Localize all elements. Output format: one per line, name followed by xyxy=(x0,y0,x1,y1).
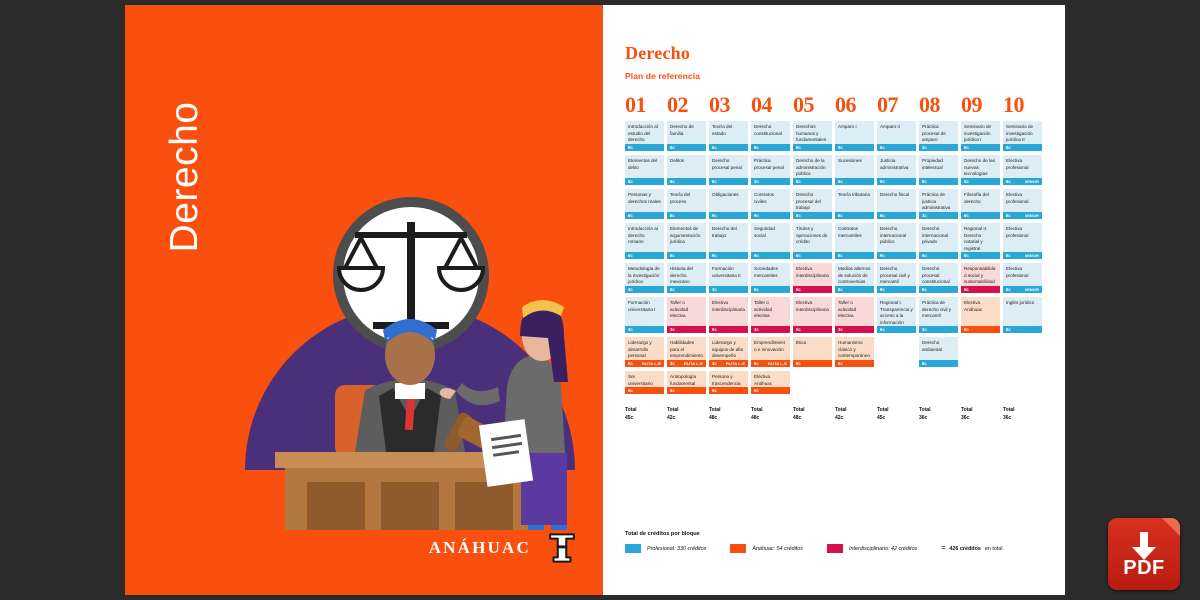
total-label: Total xyxy=(709,407,751,415)
course-credit-bar: 6c xyxy=(709,387,748,394)
course-tag: RUTA L-E xyxy=(684,361,703,366)
course-cell[interactable]: Historia del derecho mexicano6c xyxy=(667,263,706,295)
course-cell[interactable]: Contratos civiles9c xyxy=(751,189,790,221)
course-credit-bar: 6c xyxy=(961,212,1000,219)
course-credits: 6c xyxy=(1006,179,1011,184)
course-credits: 9c xyxy=(754,213,759,218)
semester-header-row: 01020304050607080910 xyxy=(625,92,1045,118)
course-name: Ser universitario xyxy=(625,371,664,387)
course-credit-bar: 6c xyxy=(835,360,874,367)
course-name: Práctica procesal de amparo xyxy=(919,121,958,144)
course-credits: 6c xyxy=(796,253,801,258)
course-credit-bar: 9c xyxy=(877,252,916,259)
course-credit-bar: 3cRUTA L-E xyxy=(667,360,706,367)
course-credits: 6c xyxy=(712,145,717,150)
course-credits: 3c xyxy=(712,287,717,292)
legend-equals: = xyxy=(941,545,945,552)
course-cell[interactable]: Práctica procesal de amparo3c xyxy=(919,121,958,153)
course-cell[interactable]: Humanismo clásico y contemporáneo6c xyxy=(835,337,874,369)
course-cell[interactable]: Personas y derechos reales6c xyxy=(625,189,664,221)
course-cell[interactable]: Práctica de derecho civil y mercantil3c xyxy=(919,297,958,335)
semester-total-09: Total36c xyxy=(961,407,1003,423)
total-value: 45c xyxy=(625,415,667,423)
course-credit-bar: 3c xyxy=(751,178,790,185)
course-cell[interactable]: Electiva profesional6cMINOR xyxy=(1003,189,1042,221)
course-name: Teoría tributaria xyxy=(835,189,874,212)
course-name: Derecho procesal penal xyxy=(709,155,748,178)
course-credits: 6c xyxy=(838,213,843,218)
course-credit-bar: 9c xyxy=(709,252,748,259)
course-cell[interactable]: Derecho ambiental6c xyxy=(919,337,958,369)
course-credits: 6c xyxy=(712,388,717,393)
semester-number-09: 09 xyxy=(961,92,1003,118)
course-cell[interactable]: Ética9c xyxy=(793,337,832,369)
course-cell[interactable]: Electiva interdisciplinaria6c xyxy=(793,263,832,295)
course-name: Derecho de familia xyxy=(667,121,706,144)
semester-number-05: 05 xyxy=(793,92,835,118)
course-credit-bar: 9c xyxy=(877,286,916,293)
course-credits: 6c xyxy=(628,179,633,184)
course-name: Derecho de la administración pública xyxy=(793,155,832,178)
course-cell[interactable]: Inglés jurídico6c xyxy=(1003,297,1042,335)
course-cell[interactable]: Electiva Anáhuac6c xyxy=(961,297,1000,335)
law-illustration xyxy=(215,140,603,530)
course-cell[interactable]: Elementos del delito6c xyxy=(625,155,664,187)
course-cell[interactable]: Antropología fundamental6c xyxy=(667,371,706,396)
course-tag: RUTA L-E xyxy=(768,361,787,366)
course-credit-bar: 3c xyxy=(625,286,664,293)
course-credit-bar: 6c xyxy=(709,326,748,333)
pdf-download-badge[interactable]: PDF xyxy=(1108,518,1180,590)
course-name: Introducción al estudio del derecho xyxy=(625,121,664,144)
course-cell[interactable]: Derecho procesal del trabajo6c xyxy=(793,189,832,221)
course-cell[interactable]: Delitos6c xyxy=(667,155,706,187)
course-name: Medios alternos de solución de controver… xyxy=(835,263,874,286)
course-credits: 9c xyxy=(796,361,801,366)
total-value: 45c xyxy=(877,415,919,423)
semester-column-05: Derechos humanos y fundamentales9cDerech… xyxy=(793,121,835,398)
course-name: Amparo I xyxy=(835,121,874,144)
semester-total-08: Total36c xyxy=(919,407,961,423)
pdf-label: PDF xyxy=(1108,557,1180,580)
course-cell[interactable]: Práctica de justicia administrativa3c xyxy=(919,189,958,221)
course-credits: 6c xyxy=(670,145,675,150)
course-cell[interactable]: Regional I. Transparencia y acceso a la … xyxy=(877,297,916,335)
course-name: Electiva Anáhuac xyxy=(751,371,790,387)
course-cell[interactable]: Electiva profesional6cMINOR xyxy=(1003,223,1042,261)
course-cell[interactable]: Filosofía del derecho6c xyxy=(961,189,1000,221)
course-cell[interactable]: Derecho de la administración pública6c xyxy=(793,155,832,187)
course-credit-bar: 6c xyxy=(625,252,664,259)
course-credits: 9c xyxy=(712,213,717,218)
course-credits: 3c xyxy=(670,361,675,366)
course-credits: 6c xyxy=(670,287,675,292)
course-name: Derecho ambiental xyxy=(919,337,958,360)
semester-total-02: Total42c xyxy=(667,407,709,423)
course-cell[interactable]: Títulos y operaciones de crédito6c xyxy=(793,223,832,261)
plan-title: Derecho xyxy=(625,43,1045,64)
course-name: Contratos mercantiles xyxy=(835,223,874,252)
legend-swatch xyxy=(730,544,746,553)
course-cell[interactable]: Formación universitaria II3c xyxy=(709,263,748,295)
legend-item: Anáhuac: 54 créditos xyxy=(730,544,803,553)
course-name: Justicia administrativa xyxy=(877,155,916,178)
course-name: Seguridad social xyxy=(751,223,790,252)
course-credits: 3c xyxy=(922,327,927,332)
course-cell[interactable]: Taller o actividad electiva3c xyxy=(667,297,706,335)
course-name: Derecho internacional privado xyxy=(919,223,958,252)
course-name: Filosofía del derecho xyxy=(961,189,1000,212)
course-credits: 9c xyxy=(628,145,633,150)
course-credits: 6c xyxy=(880,145,885,150)
semester-column-03: Teoría del estado6cDerecho procesal pena… xyxy=(709,121,751,398)
cover-title: Derecho xyxy=(163,67,207,287)
course-credit-bar: 6c xyxy=(751,252,790,259)
course-cell[interactable]: Derecho procesal constitucional6c xyxy=(919,263,958,295)
course-name: Regional I. Transparencia y acceso a la … xyxy=(877,297,916,326)
course-credits: 9c xyxy=(880,287,885,292)
course-tag: RUTA L-E xyxy=(642,361,661,366)
total-label: Total xyxy=(919,407,961,415)
course-cell[interactable]: Justicia administrativa9c xyxy=(877,155,916,187)
course-tag: MINOR xyxy=(1025,287,1039,292)
anahuac-a-icon xyxy=(545,531,579,565)
course-name: Derecho internacional público xyxy=(877,223,916,252)
course-cell[interactable]: Seminario de investigación jurídica II6c xyxy=(1003,121,1042,153)
course-credits: 6c xyxy=(796,213,801,218)
course-cell[interactable]: Liderazgo y equipos de alto desempeño3cR… xyxy=(709,337,748,369)
course-cell[interactable]: Medios alternos de solución de controver… xyxy=(835,263,874,295)
course-name: Electiva Anáhuac xyxy=(961,297,1000,326)
course-name: Delitos xyxy=(667,155,706,178)
course-cell[interactable]: Seguridad social6c xyxy=(751,223,790,261)
course-cell[interactable]: Electiva profesional6cMINOR xyxy=(1003,155,1042,187)
course-credit-bar: 3c xyxy=(919,326,958,333)
course-credit-bar: 9c xyxy=(625,144,664,151)
course-cell[interactable]: Metodología de la investigación jurídica… xyxy=(625,263,664,295)
course-name: Práctica de justicia administrativa xyxy=(919,189,958,212)
course-cell[interactable]: Derecho de las nuevas tecnologías6c xyxy=(961,155,1000,187)
course-cell[interactable]: Derecho constitucional9c xyxy=(751,121,790,153)
course-cell[interactable]: Electiva interdisciplinaria6c xyxy=(793,297,832,335)
semester-total-06: Total42c xyxy=(835,407,877,423)
course-cell[interactable]: Propiedad intelectual6c xyxy=(919,155,958,187)
course-cell[interactable]: Contratos mercantiles6c xyxy=(835,223,874,261)
course-credits: 9c xyxy=(880,179,885,184)
course-cell[interactable]: Teoría tributaria6c xyxy=(835,189,874,221)
total-label: Total xyxy=(961,407,1003,415)
course-credit-bar: 6c xyxy=(835,178,874,185)
course-credit-bar: 6c xyxy=(751,286,790,293)
legend-swatch xyxy=(625,544,641,553)
course-credits: 6c xyxy=(628,213,633,218)
course-credits: 3c xyxy=(754,327,759,332)
course-credit-bar: 3c xyxy=(625,326,664,333)
course-credit-bar: 9c xyxy=(793,360,832,367)
course-credit-bar: 6c xyxy=(793,178,832,185)
course-credits: 9c xyxy=(838,145,843,150)
course-cell[interactable]: Derecho internacional público9c xyxy=(877,223,916,261)
course-name: Liderazgo y desarrollo personal xyxy=(625,337,664,360)
semester-number-10: 10 xyxy=(1003,92,1045,118)
course-cell[interactable]: Derecho fiscal6c xyxy=(877,189,916,221)
curriculum-grid: Introducción al estudio del derecho9cEle… xyxy=(625,121,1045,398)
course-name: Derecho de las nuevas tecnologías xyxy=(961,155,1000,178)
legend-total-value: 426 créditos xyxy=(949,546,980,552)
course-cell[interactable]: Persona y trascendencia6c xyxy=(709,371,748,396)
course-cell[interactable]: Taller o actividad electiva3c xyxy=(751,297,790,335)
course-credit-bar: 6c xyxy=(835,286,874,293)
course-cell[interactable]: Seminario de investigación jurídica I6c xyxy=(961,121,1000,153)
anahuac-logo: ANÁHUAC xyxy=(429,531,579,565)
legend-total-suffix: en total xyxy=(985,546,1003,552)
course-credit-bar: 6cMINOR xyxy=(1003,212,1042,219)
course-name: Derechos humanos y fundamentales xyxy=(793,121,832,144)
course-credit-bar: 6c xyxy=(1003,144,1042,151)
course-credit-bar: 6c xyxy=(961,144,1000,151)
course-name: Derecho procesal del trabajo xyxy=(793,189,832,212)
course-cell[interactable]: Emprendimiento e innovación6cRUTA L-E xyxy=(751,337,790,369)
course-cell[interactable]: Amparo II6c xyxy=(877,121,916,153)
course-credits: 6c xyxy=(628,253,633,258)
semester-column-09: Seminario de investigación jurídica I6cD… xyxy=(961,121,1003,398)
course-credits: 3c xyxy=(754,179,759,184)
totals-row: Total45cTotal42cTotal48cTotal48cTotal48c… xyxy=(625,407,1045,423)
course-name: Introducción al derecho romano xyxy=(625,223,664,252)
legend-label: Interdisciplinario: 42 créditos xyxy=(849,546,917,552)
course-cell[interactable]: Práctica procesal penal3c xyxy=(751,155,790,187)
course-cell[interactable]: Liderazgo y desarrollo personal6cRUTA L-… xyxy=(625,337,664,369)
course-cell[interactable]: Derecho procesal civil y mercantil9c xyxy=(877,263,916,295)
course-credit-bar: 3c xyxy=(709,286,748,293)
course-name: Derecho constitucional xyxy=(751,121,790,144)
course-credits: 6c xyxy=(712,179,717,184)
course-credit-bar: 9c xyxy=(877,178,916,185)
course-credits: 6c xyxy=(670,179,675,184)
course-name: Sucesiones xyxy=(835,155,874,178)
course-credit-bar: 6c xyxy=(919,178,958,185)
semester-number-03: 03 xyxy=(709,92,751,118)
course-credits: 6c xyxy=(964,213,969,218)
course-credits: 9c xyxy=(796,145,801,150)
course-cell[interactable]: Derecho procesal penal6c xyxy=(709,155,748,187)
course-name: Habilidades para el emprendimiento xyxy=(667,337,706,360)
course-name: Persona y trascendencia xyxy=(709,371,748,387)
course-credits: 6c xyxy=(922,253,927,258)
course-cell[interactable]: Teoría del proceso6c xyxy=(667,189,706,221)
course-credits: 3c xyxy=(712,361,717,366)
course-credit-bar: 6cRUTA L-E xyxy=(751,360,790,367)
legend-label: Anáhuac: 54 créditos xyxy=(752,546,803,552)
course-credit-bar: 6c xyxy=(877,144,916,151)
legend-label: Profesional: 330 créditos xyxy=(647,546,706,552)
course-credit-bar: 6c xyxy=(793,286,832,293)
course-credit-bar: 6c xyxy=(667,286,706,293)
course-credit-bar: 6c xyxy=(793,326,832,333)
legend-title: Total de créditos por bloque xyxy=(625,531,1025,537)
course-credit-bar: 6c xyxy=(709,144,748,151)
course-credits: 6c xyxy=(1006,253,1011,258)
course-credit-bar: 6cMINOR xyxy=(1003,286,1042,293)
course-name: Electiva profesional xyxy=(1003,223,1042,252)
course-credit-bar: 3c xyxy=(751,326,790,333)
course-credit-bar: 6c xyxy=(919,286,958,293)
course-credit-bar: 9c xyxy=(709,212,748,219)
course-cell[interactable]: Derecho de familia6c xyxy=(667,121,706,153)
course-cell[interactable]: Elementos de argumentación jurídica6c xyxy=(667,223,706,261)
course-name: Electiva interdisciplinaria xyxy=(793,297,832,326)
course-name: Obligaciones xyxy=(709,189,748,212)
semester-column-04: Derecho constitucional9cPráctica procesa… xyxy=(751,121,793,398)
course-cell[interactable]: Electiva interdisciplinaria6c xyxy=(709,297,748,335)
legend-items: Profesional: 330 créditosAnáhuac: 54 cré… xyxy=(625,544,1025,553)
course-credit-bar: 6c xyxy=(667,178,706,185)
course-credit-bar: 3c xyxy=(667,326,706,333)
course-credit-bar: 3c xyxy=(919,144,958,151)
course-credits: 6c xyxy=(922,361,927,366)
total-value: 48c xyxy=(793,415,835,423)
course-cell[interactable]: Sociedades mercantiles6c xyxy=(751,263,790,295)
total-label: Total xyxy=(793,407,835,415)
course-tag: RUTA L-E xyxy=(726,361,745,366)
course-cell[interactable]: Ser universitario6c xyxy=(625,371,664,396)
semester-total-10: Total36c xyxy=(1003,407,1045,423)
course-cell[interactable]: Derechos humanos y fundamentales9c xyxy=(793,121,832,153)
course-credits: 6c xyxy=(754,361,759,366)
course-credit-bar: 6c xyxy=(793,212,832,219)
course-cell[interactable]: Derecho del trabajo9c xyxy=(709,223,748,261)
course-credits: 6c xyxy=(838,361,843,366)
legend: Total de créditos por bloque Profesional… xyxy=(625,531,1025,553)
course-credits: 6c xyxy=(754,287,759,292)
course-cell[interactable]: Sucesiones6c xyxy=(835,155,874,187)
course-credits: 6c xyxy=(796,287,801,292)
course-credits: 6c xyxy=(964,327,969,332)
course-cell[interactable]: Obligaciones9c xyxy=(709,189,748,221)
semester-total-03: Total48c xyxy=(709,407,751,423)
course-name: Ética xyxy=(793,337,832,360)
course-name: Títulos y operaciones de crédito xyxy=(793,223,832,252)
course-credits: 6c xyxy=(880,213,885,218)
course-credits: 6c xyxy=(796,179,801,184)
semester-number-02: 02 xyxy=(667,92,709,118)
course-credits: 6c xyxy=(754,253,759,258)
course-credits: 3c xyxy=(670,327,675,332)
page-fold-icon xyxy=(1162,518,1180,536)
course-cell[interactable]: Responsabilidad social y sustentabilidad… xyxy=(961,263,1000,295)
course-credits: 6c xyxy=(1006,145,1011,150)
course-name: Amparo II xyxy=(877,121,916,144)
course-credits: 6c xyxy=(1006,213,1011,218)
course-name: Antropología fundamental xyxy=(667,371,706,387)
course-credit-bar: 6c xyxy=(667,252,706,259)
course-credit-bar: 9c xyxy=(835,144,874,151)
course-credit-bar: 6c xyxy=(877,326,916,333)
course-cell[interactable]: Derecho internacional privado6c xyxy=(919,223,958,261)
course-credit-bar: 6c xyxy=(667,387,706,394)
course-credits: 6c xyxy=(880,327,885,332)
course-credit-bar: 6cMINOR xyxy=(1003,252,1042,259)
semester-column-02: Derecho de familia6cDelitos6cTeoría del … xyxy=(667,121,709,398)
course-name: Contratos civiles xyxy=(751,189,790,212)
course-cell[interactable]: Formación universitaria I3c xyxy=(625,297,664,335)
course-credit-bar: 6c xyxy=(961,326,1000,333)
course-name: Derecho procesal constitucional xyxy=(919,263,958,286)
course-credit-bar: 6c xyxy=(751,387,790,394)
course-cell[interactable]: Introducción al estudio del derecho9c xyxy=(625,121,664,153)
course-credit-bar: 6cRUTA L-E xyxy=(625,360,664,367)
total-value: 36c xyxy=(961,415,1003,423)
course-credits: 6c xyxy=(964,179,969,184)
course-credit-bar: 6cMINOR xyxy=(1003,178,1042,185)
course-credit-bar: 6c xyxy=(919,252,958,259)
legend-grand-total: =426 créditos en total xyxy=(941,545,1002,552)
course-name: Taller o actividad electiva xyxy=(751,297,790,326)
course-name: Liderazgo y equipos de alto desempeño xyxy=(709,337,748,360)
course-name: Teoría del proceso xyxy=(667,189,706,212)
course-credits: 6c xyxy=(712,327,717,332)
course-cell[interactable]: Amparo I9c xyxy=(835,121,874,153)
course-credits: 6c xyxy=(796,327,801,332)
course-name: Formación universitaria II xyxy=(709,263,748,286)
brand-wordmark: ANÁHUAC xyxy=(429,538,531,558)
semester-number-07: 07 xyxy=(877,92,919,118)
course-credits: 6c xyxy=(670,213,675,218)
course-cell[interactable]: Introducción al derecho romano6c xyxy=(625,223,664,261)
course-name: Regional II. Derecho notarial y registra… xyxy=(961,223,1000,252)
course-credit-bar: 6c xyxy=(709,178,748,185)
course-cell[interactable]: Electiva Anáhuac6c xyxy=(751,371,790,396)
course-tag: MINOR xyxy=(1025,253,1039,258)
plan-subtitle: Plan de referencia xyxy=(625,71,1045,81)
semester-number-01: 01 xyxy=(625,92,667,118)
course-cell[interactable]: Electiva profesional6cMINOR xyxy=(1003,263,1042,295)
course-credits: 3c xyxy=(628,287,633,292)
course-name: Historia del derecho mexicano xyxy=(667,263,706,286)
course-name: Electiva profesional xyxy=(1003,189,1042,212)
semester-total-05: Total48c xyxy=(793,407,835,423)
course-credits: 6c xyxy=(922,287,927,292)
course-name: Propiedad intelectual xyxy=(919,155,958,178)
course-cell[interactable]: Teoría del estado6c xyxy=(709,121,748,153)
course-credits: 6c xyxy=(1006,327,1011,332)
course-cell[interactable]: Regional II. Derecho notarial y registra… xyxy=(961,223,1000,261)
course-credit-bar: 6c xyxy=(961,286,1000,293)
course-credits: 6c xyxy=(964,145,969,150)
course-credit-bar: 6c xyxy=(625,178,664,185)
course-name: Práctica de derecho civil y mercantil xyxy=(919,297,958,326)
semester-total-07: Total45c xyxy=(877,407,919,423)
course-cell[interactable]: Habilidades para el emprendimiento3cRUTA… xyxy=(667,337,706,369)
course-credit-bar: 6c xyxy=(919,360,958,367)
course-name: Derecho procesal civil y mercantil xyxy=(877,263,916,286)
course-name: Práctica procesal penal xyxy=(751,155,790,178)
legend-item: Interdisciplinario: 42 créditos xyxy=(827,544,917,553)
total-label: Total xyxy=(625,407,667,415)
semester-total-04: Total48c xyxy=(751,407,793,423)
total-label: Total xyxy=(751,407,793,415)
course-credits: 6c xyxy=(670,253,675,258)
course-cell[interactable]: Taller o actividad electiva3c xyxy=(835,297,874,335)
course-name: Derecho del trabajo xyxy=(709,223,748,252)
course-credit-bar: 6c xyxy=(625,212,664,219)
course-name: Taller o actividad electiva xyxy=(667,297,706,326)
course-name: Responsabilidad social y sustentabilidad xyxy=(961,263,1000,286)
semester-total-01: Total45c xyxy=(625,407,667,423)
course-name: Humanismo clásico y contemporáneo xyxy=(835,337,874,360)
course-credits: 9c xyxy=(880,253,885,258)
total-value: 48c xyxy=(751,415,793,423)
